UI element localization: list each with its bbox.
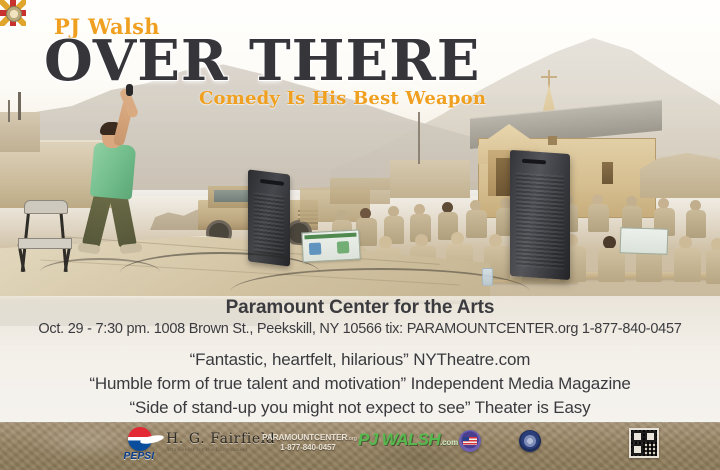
paramount-center-logo[interactable]: PARAMOUNTCENTER.org 1-877-840-0457	[262, 432, 354, 454]
performer-torso	[90, 142, 137, 199]
stage-speaker-right	[510, 150, 570, 280]
qr-finder-bottom-left	[632, 444, 643, 455]
seal-center-emblem	[6, 6, 22, 22]
paramount-center-name: PARAMOUNTCENTER	[262, 432, 347, 442]
pjwalsh-logo[interactable]: PJ WALSH.com	[358, 430, 444, 450]
pepsi-globe-icon	[128, 427, 152, 451]
soldier-body	[466, 210, 487, 238]
paramount-center-phone: 1-877-840-0457	[262, 443, 354, 452]
promo-sign-graphic	[337, 241, 350, 254]
flag-canton-icon	[463, 437, 469, 441]
comedian-performer	[80, 104, 172, 254]
military-unit-seal-icon[interactable]	[519, 430, 541, 452]
chair-back	[24, 200, 68, 214]
water-bottle	[482, 268, 493, 286]
pjwalsh-wordmark: PJ WALSH	[358, 430, 440, 449]
folding-chair	[14, 200, 72, 270]
qr-finder-top-left	[632, 431, 643, 442]
vfw-cross-seal-icon[interactable]	[0, 0, 26, 26]
chapel-cross-horizontal	[541, 76, 557, 78]
stage-cable	[40, 258, 160, 286]
speaker-grille	[516, 172, 564, 269]
venue-details: Oct. 29 - 7:30 pm. 1008 Brown St., Peeks…	[0, 321, 720, 337]
performer-leg	[81, 191, 112, 250]
promo-sign-graphic	[309, 243, 322, 256]
paramount-center-url: PARAMOUNTCENTER.org	[262, 432, 354, 442]
hg-fairfield-name: H. G. Fairfield	[166, 431, 262, 447]
pepsi-wordmark: PEPSI	[116, 451, 162, 462]
page-title: OVER THERE	[44, 33, 480, 89]
soldier-body	[686, 210, 706, 238]
tagline: Comedy Is His Best Weapon	[199, 88, 486, 109]
utility-pole-left-2	[8, 100, 10, 122]
stage-promo-sign	[301, 230, 360, 263]
performer-shoe	[77, 243, 100, 255]
press-quote: “Side of stand-up you might not expect t…	[0, 398, 720, 418]
performer-leg	[109, 191, 137, 249]
performer-shoe	[120, 243, 143, 254]
audience-promo-sign	[620, 227, 669, 255]
press-quote: “Fantastic, heartfelt, hilarious” NYThea…	[0, 350, 720, 370]
pepsi-logo[interactable]: PEPSI	[116, 427, 162, 465]
event-poster: PJ Walsh OVER THERE Comedy Is His Best W…	[0, 0, 720, 470]
soldier-body	[674, 248, 701, 282]
paramount-center-tld: .org	[347, 436, 357, 442]
qr-code[interactable]	[629, 428, 659, 458]
veterans-flag-seal-icon[interactable]	[459, 430, 481, 452]
utility-pole-left	[18, 92, 21, 120]
hg-fairfield-logo[interactable]: H. G. Fairfield Arts Center for the Envi…	[166, 431, 262, 455]
speaker-handle	[260, 179, 284, 186]
pjwalsh-tld: .com	[440, 438, 458, 447]
seal-inner-ring	[524, 435, 536, 447]
antenna-mast	[418, 112, 420, 164]
soldier-body	[706, 250, 720, 284]
soldier-body	[588, 204, 609, 232]
chapel-window-side	[602, 162, 613, 184]
speaker-handle	[522, 159, 546, 165]
stage-speaker-left	[248, 169, 290, 266]
chapel-window-upper	[548, 136, 557, 145]
venue-name: Paramount Center for the Arts	[0, 297, 720, 319]
promo-sign-header	[304, 233, 356, 240]
qr-finder-top-right	[645, 431, 656, 442]
speaker-grille	[254, 192, 284, 256]
press-quote: “Humble form of true talent and motivati…	[0, 374, 720, 394]
pepsi-wave-icon	[140, 434, 165, 446]
chair-seat	[18, 238, 72, 249]
hg-fairfield-subtitle: Arts Center for the Environment	[166, 448, 262, 453]
